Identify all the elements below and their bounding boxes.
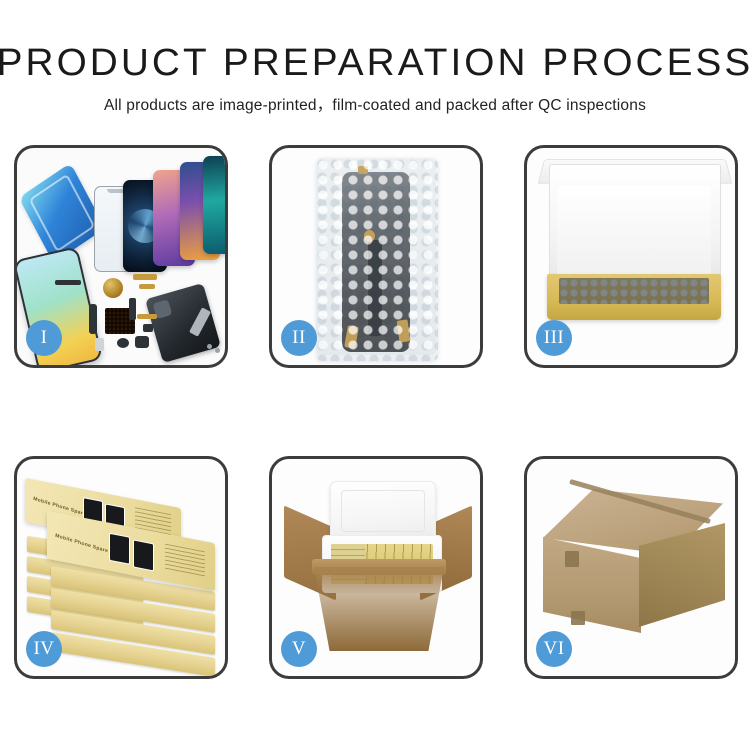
step-panel-6-sealed-carton[interactable]: VI [524,456,738,679]
step-panel-1-phone-parts[interactable]: I [14,145,228,368]
step-badge-2: II [281,320,317,356]
process-step-grid: I II [14,145,736,725]
phone-screen-4-icon [203,156,225,254]
product-preparation-process-page: PRODUCT PREPARATION PROCESS All products… [0,0,750,750]
spare-part-icon [117,338,129,348]
page-title: PRODUCT PREPARATION PROCESS [0,0,750,82]
spare-part-icon [135,336,149,348]
step-panel-5-foam-carton[interactable]: V [269,456,483,679]
step-badge-6: VI [536,631,572,667]
page-header: PRODUCT PREPARATION PROCESS All products… [0,0,750,114]
step-badge-3: III [536,320,572,356]
step-panel-3-inner-box[interactable]: III [524,145,738,368]
carton-tab-icon [571,611,585,625]
carton-body-icon [314,567,444,651]
box-spec-lines [165,544,205,578]
box-phone-image [133,539,154,571]
yellow-box-tray-icon [547,274,721,320]
tape-icon [364,230,375,242]
box-stack: Mobile Phone Spare Parts Mobile Phone Sp… [23,487,223,657]
screw-icon [215,348,220,353]
step-badge-5: V [281,631,317,667]
spare-part-icon [55,280,81,285]
carton-front-face [543,537,641,633]
speaker-coil-icon [103,278,123,298]
screen-flex-cable-icon [368,240,382,336]
spare-part-icon [129,298,136,320]
phone-back-housing-icon [145,283,221,363]
step-panel-2-bubble-wrap[interactable]: II [269,145,483,368]
page-subtitle: All products are image-printed，film-coat… [0,82,750,114]
spare-part-icon [95,338,104,351]
spare-part-icon [89,304,97,334]
screw-icon [207,344,212,349]
step-badge-4: IV [26,631,62,667]
flex-cable-icon [137,314,157,319]
spare-part-icon [143,324,153,332]
box-phone-image [109,533,130,565]
foam-sheet-icon [557,186,711,274]
step-badge-1: I [26,320,62,356]
bubble-wrap-contents-icon [559,278,709,304]
flex-cable-icon [133,274,157,280]
carton-tab-icon [565,551,579,567]
screen-protector-film-icon [19,163,105,263]
step-panel-4-stacked-boxes[interactable]: Mobile Phone Spare Parts Mobile Phone Sp… [14,456,228,679]
flex-cable-icon [139,284,155,289]
tape-icon [358,166,368,174]
